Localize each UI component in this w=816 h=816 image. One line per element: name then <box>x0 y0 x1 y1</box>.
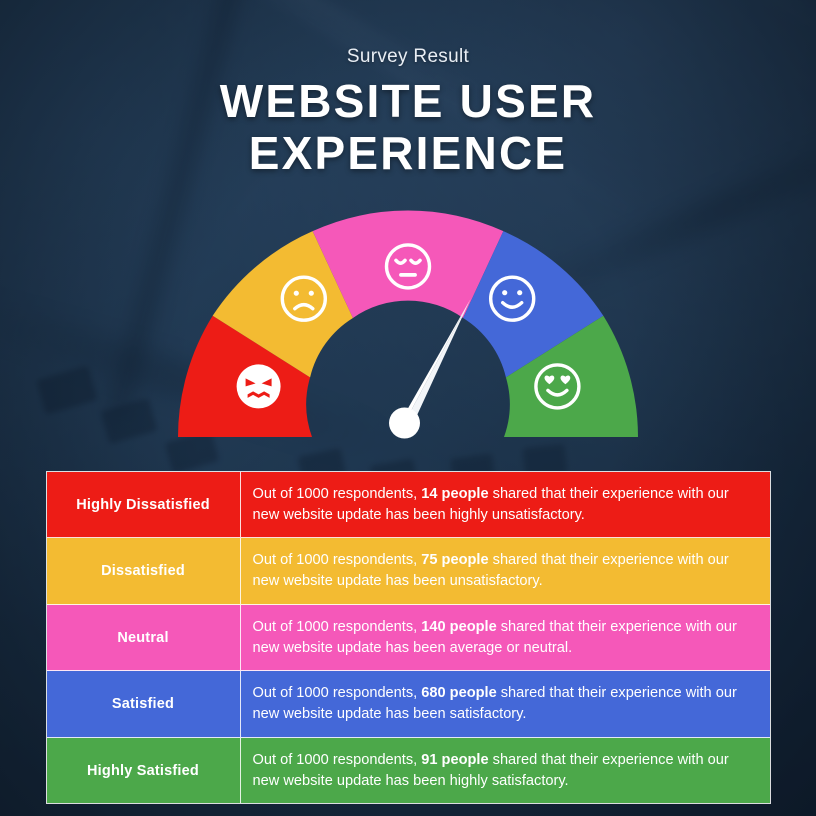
row-count: 91 people <box>421 752 488 768</box>
results-table: Highly Dissatisfied Out of 1000 responde… <box>46 471 771 804</box>
table-row: Highly Dissatisfied Out of 1000 responde… <box>47 472 770 538</box>
row-category-highly-dissatisfied: Highly Dissatisfied <box>47 472 241 537</box>
gauge-svg <box>158 185 658 447</box>
angry-face-icon <box>237 364 281 408</box>
row-category-dissatisfied: Dissatisfied <box>47 538 241 603</box>
row-count: 14 people <box>421 486 488 502</box>
page-title-line1: WEBSITE USER <box>220 75 597 127</box>
row-category-neutral: Neutral <box>47 605 241 670</box>
page-title: WEBSITE USER EXPERIENCE <box>0 76 816 179</box>
satisfaction-gauge-chart <box>0 185 816 455</box>
row-description: Out of 1000 respondents, 14 people share… <box>241 472 770 537</box>
page-title-line2: EXPERIENCE <box>0 128 816 180</box>
gauge-needle <box>389 299 471 439</box>
table-row: Neutral Out of 1000 respondents, 140 peo… <box>47 605 770 671</box>
row-prefix: Out of 1000 respondents, <box>253 685 422 701</box>
row-count: 75 people <box>421 552 488 568</box>
row-prefix: Out of 1000 respondents, <box>253 552 422 568</box>
row-prefix: Out of 1000 respondents, <box>253 486 422 502</box>
table-row: Highly Satisfied Out of 1000 respondents… <box>47 738 770 803</box>
row-prefix: Out of 1000 respondents, <box>253 619 422 635</box>
row-description: Out of 1000 respondents, 140 people shar… <box>241 605 770 670</box>
header: Survey Result WEBSITE USER EXPERIENCE <box>0 0 816 179</box>
row-category-highly-satisfied: Highly Satisfied <box>47 738 241 803</box>
row-count: 140 people <box>421 619 496 635</box>
row-description: Out of 1000 respondents, 680 people shar… <box>241 671 770 736</box>
row-prefix: Out of 1000 respondents, <box>253 752 422 768</box>
row-category-satisfied: Satisfied <box>47 671 241 736</box>
survey-subtitle: Survey Result <box>0 46 816 68</box>
row-count: 680 people <box>421 685 496 701</box>
table-row: Satisfied Out of 1000 respondents, 680 p… <box>47 671 770 737</box>
row-description: Out of 1000 respondents, 75 people share… <box>241 538 770 603</box>
row-description: Out of 1000 respondents, 91 people share… <box>241 738 770 803</box>
table-row: Dissatisfied Out of 1000 respondents, 75… <box>47 538 770 604</box>
